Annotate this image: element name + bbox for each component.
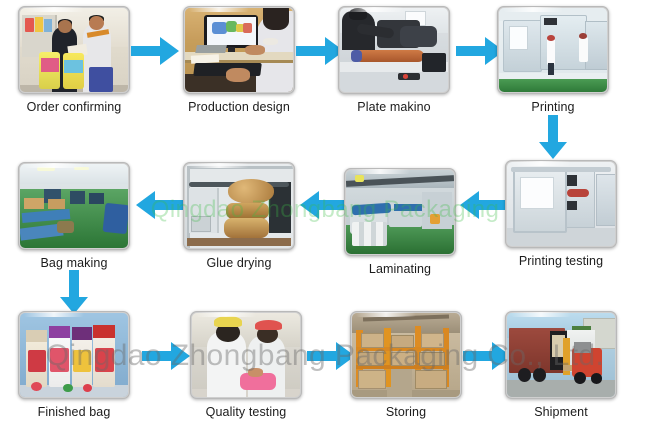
arrow-down-icon (60, 270, 88, 314)
step-label-glue-drying: Glue drying (183, 256, 295, 270)
step-label-printing-testing: Printing testing (497, 254, 625, 268)
process-step-quality-testing[interactable]: Quality testing (190, 311, 310, 419)
step-label-storing: Storing (350, 405, 462, 419)
arrow-right-icon (296, 37, 344, 65)
arrow-right-icon (307, 342, 355, 370)
arrow-left-icon (460, 191, 508, 219)
process-step-order-confirming[interactable]: Order confirming (18, 6, 130, 114)
production-design-photo[interactable] (183, 6, 295, 94)
step-label-production-design: Production design (175, 100, 303, 114)
process-step-printing-testing[interactable]: Printing testing (505, 160, 625, 268)
bag-making-photo[interactable] (18, 162, 130, 250)
step-label-laminating: Laminating (344, 262, 456, 276)
arrow-left-icon (136, 191, 184, 219)
process-step-bag-making[interactable]: Bag making (18, 162, 130, 270)
arrow-right-icon (463, 342, 511, 370)
process-step-shipment[interactable]: Shipment (505, 311, 617, 419)
step-label-bag-making: Bag making (18, 256, 130, 270)
step-label-plate-making: Plate makino (330, 100, 458, 114)
storing-photo[interactable] (350, 311, 462, 399)
process-step-printing[interactable]: Printing (497, 6, 609, 114)
arrow-right-icon (131, 37, 179, 65)
quality-testing-photo[interactable] (190, 311, 302, 399)
glue-drying-photo[interactable] (183, 162, 295, 250)
plate-making-photo[interactable] (338, 6, 450, 94)
arrow-down-icon (539, 115, 567, 159)
process-flow-diagram: Order confirming P (0, 0, 650, 431)
process-step-production-design[interactable]: Production design (183, 6, 303, 114)
laminating-photo[interactable] (344, 168, 456, 256)
step-label-order-confirming: Order confirming (18, 100, 130, 114)
process-step-storing[interactable]: Storing (350, 311, 462, 419)
arrow-left-icon (300, 191, 348, 219)
step-label-shipment: Shipment (505, 405, 617, 419)
step-label-printing: Printing (497, 100, 609, 114)
process-step-plate-making[interactable]: Plate makino (338, 6, 458, 114)
step-label-finished-bag: Finished bag (18, 405, 130, 419)
arrow-right-icon (142, 342, 190, 370)
printing-testing-photo[interactable] (505, 160, 617, 248)
order-confirming-photo[interactable] (18, 6, 130, 94)
process-step-glue-drying[interactable]: Glue drying (183, 162, 295, 270)
shipment-photo[interactable] (505, 311, 617, 399)
process-step-finished-bag[interactable]: Finished bag (18, 311, 130, 419)
finished-bag-photo[interactable] (18, 311, 130, 399)
process-step-laminating[interactable]: Laminating (344, 168, 456, 276)
step-label-quality-testing: Quality testing (182, 405, 310, 419)
printing-photo[interactable] (497, 6, 609, 94)
